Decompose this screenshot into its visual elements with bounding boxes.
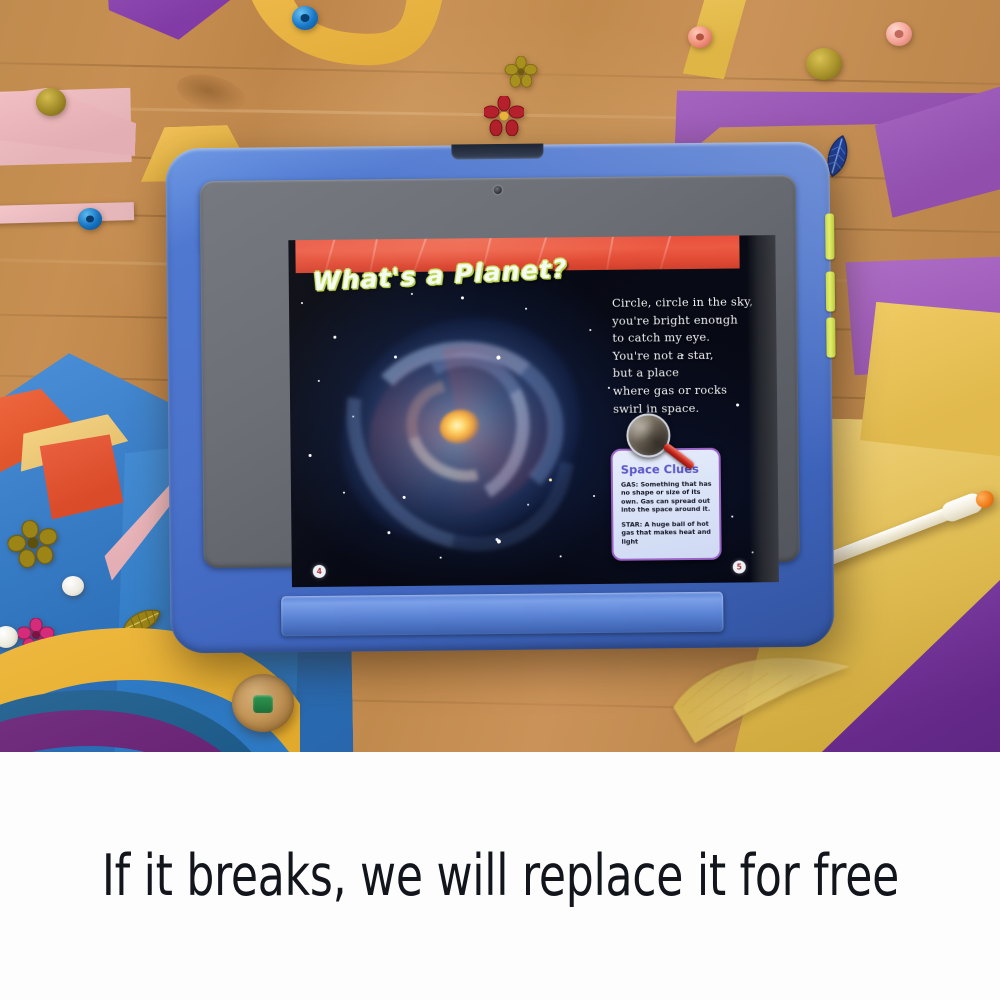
callout-title: Space Clues — [621, 462, 712, 477]
poem-line: you're bright enough — [612, 311, 762, 330]
magnifying-glass-icon — [626, 413, 670, 457]
bead-blue — [292, 6, 318, 30]
sequin-red-flower — [484, 96, 524, 136]
caption-area: If it breaks, we will replace it for fre… — [0, 752, 1000, 1000]
sequin-gold-circle — [806, 48, 842, 80]
volume-down-button[interactable] — [826, 317, 835, 357]
bead-pink — [688, 26, 712, 48]
bead-white — [62, 576, 84, 596]
page-gutter — [746, 235, 779, 582]
tablet-bezel: What's a Planet? Circle, circle in the s… — [200, 175, 800, 568]
page-number-left: 4 — [313, 565, 326, 578]
ebook-page-spread: What's a Planet? Circle, circle in the s… — [288, 235, 779, 587]
paper-piece-pink-strip — [0, 202, 134, 224]
sequin-gold-circle — [36, 88, 66, 116]
tablet-top-port[interactable] — [451, 144, 543, 160]
poem-line: but a place — [613, 364, 763, 383]
bead-pink — [886, 22, 912, 46]
poem-line: swirl in space. — [613, 399, 763, 418]
bead-blue — [78, 208, 102, 230]
caption-text: If it breaks, we will replace it for fre… — [101, 843, 898, 909]
paper-piece-purple-top — [105, 0, 241, 44]
glossary-entry: STAR: A huge ball of hot gas that makes … — [621, 520, 712, 546]
poem-line: You're not a star, — [612, 346, 762, 365]
sequin-gold-flower — [504, 56, 538, 88]
spool-thread — [253, 695, 273, 713]
kids-tablet[interactable]: What's a Planet? Circle, circle in the s… — [165, 142, 834, 654]
poem-line: Circle, circle in the sky, — [612, 293, 762, 312]
glossary-term: GAS: — [621, 481, 638, 489]
power-button[interactable] — [825, 213, 834, 259]
front-camera-icon — [494, 186, 502, 194]
spiral-galaxy-illustration — [307, 285, 592, 568]
page-number-right: 5 — [733, 560, 746, 573]
poem-line: to catch my eye. — [612, 328, 762, 347]
glossary-term: STAR: — [621, 521, 642, 529]
product-image-card: What's a Planet? Circle, circle in the s… — [0, 0, 1000, 1000]
paper-piece-yellow-right-mid — [855, 297, 1000, 462]
wooden-spool — [232, 674, 294, 732]
volume-up-button[interactable] — [826, 271, 835, 311]
tablet-screen[interactable]: What's a Planet? Circle, circle in the s… — [288, 235, 779, 587]
glossary-entry: GAS: Something that has no shape or size… — [621, 480, 712, 514]
space-clues-callout: Space Clues GAS: Something that has no s… — [611, 448, 722, 561]
tablet-kickstand[interactable] — [280, 592, 724, 637]
wood-grain — [0, 60, 1000, 87]
poem-text: Circle, circle in the sky, you're bright… — [612, 293, 763, 418]
product-photo: What's a Planet? Circle, circle in the s… — [0, 0, 1000, 752]
poem-line: where gas or rocks — [613, 381, 763, 400]
galaxy-graphic — [307, 285, 592, 568]
